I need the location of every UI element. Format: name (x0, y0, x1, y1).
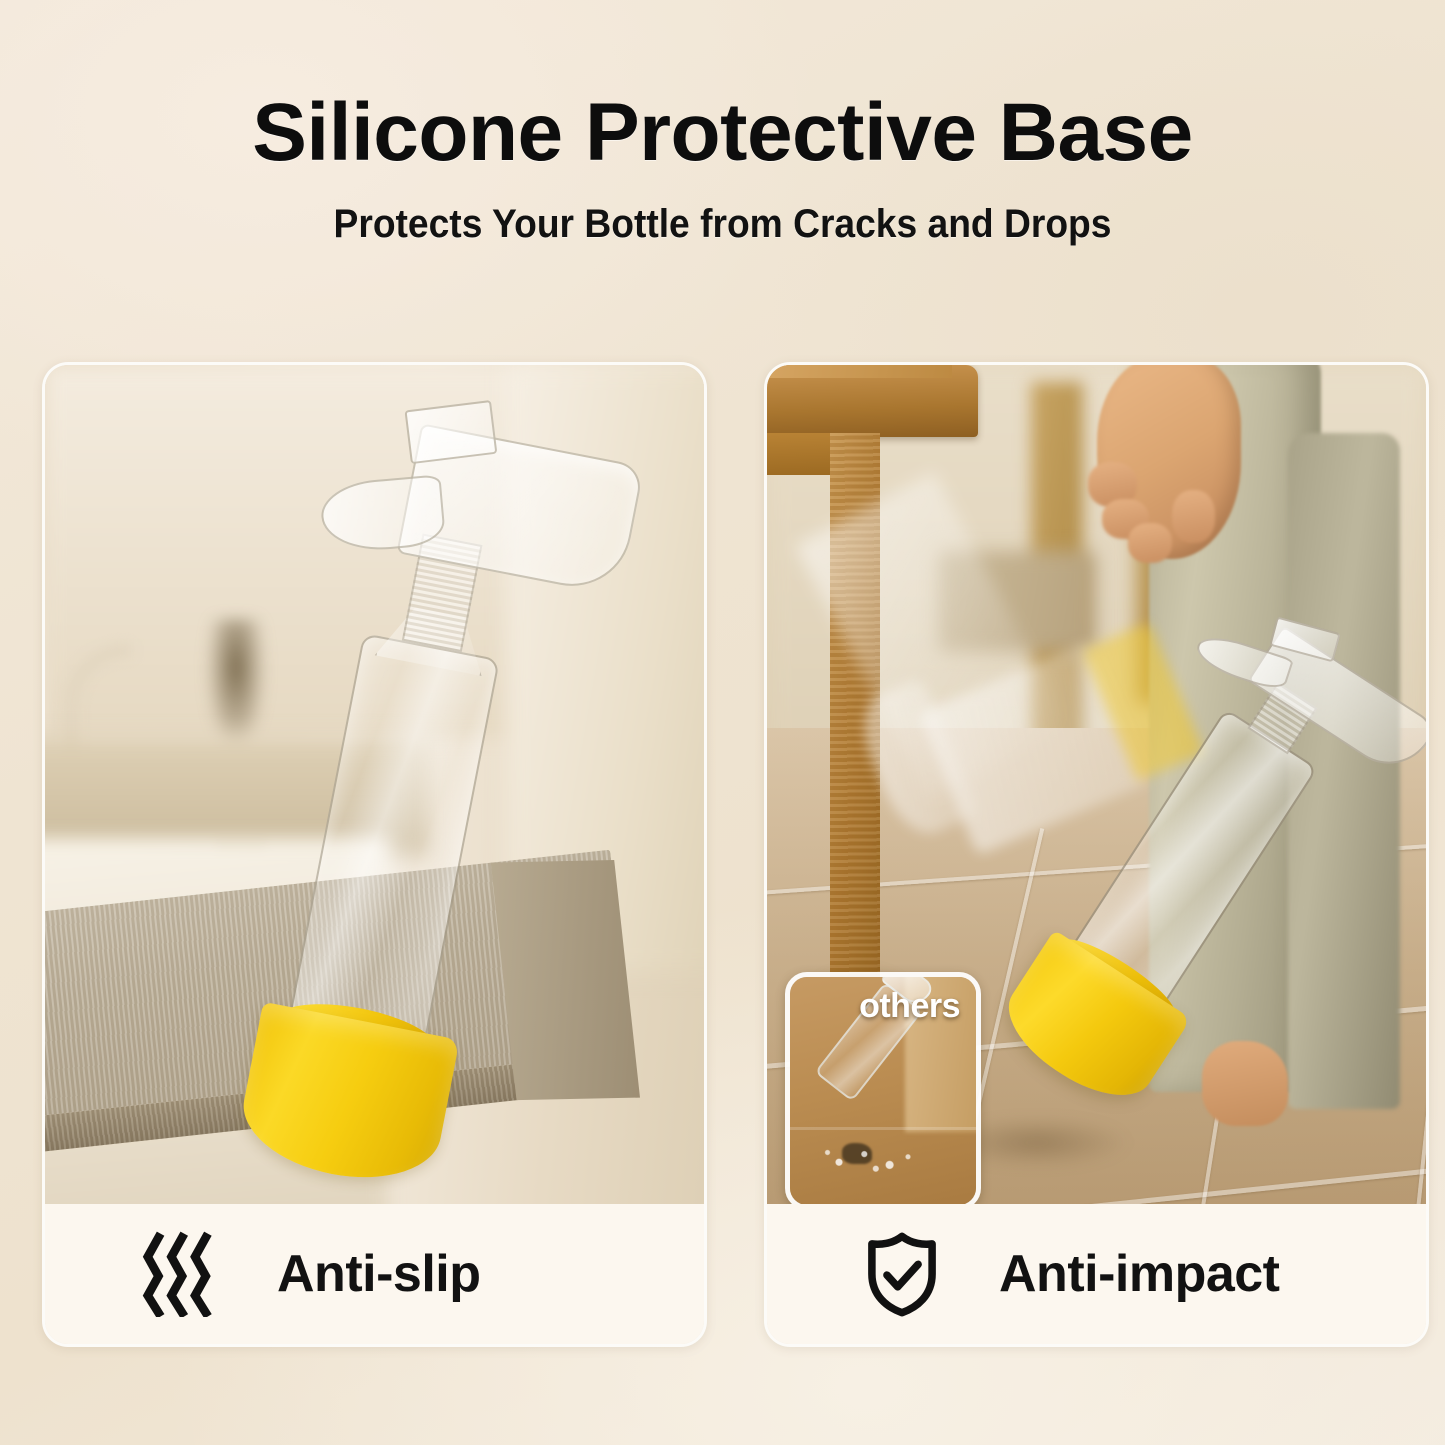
inset-label: others (859, 987, 960, 1026)
page-title: Silicone Protective Base (0, 92, 1445, 174)
header: Silicone Protective Base Protects Your B… (0, 0, 1445, 244)
photo-anti-impact: others (767, 365, 1426, 1210)
table-top-edge (767, 365, 952, 378)
feature-label: Anti-impact (999, 1244, 1280, 1304)
panel-anti-slip[interactable]: Anti-slip (42, 362, 707, 1347)
photo-anti-slip (45, 365, 704, 1210)
panel-anti-impact[interactable]: others Anti-impact (764, 362, 1429, 1347)
others-comparison-inset[interactable]: others (785, 972, 981, 1210)
zigzag-friction-icon (141, 1231, 219, 1317)
feature-label-strip-anti-impact: Anti-impact (767, 1204, 1426, 1344)
shield-check-icon (863, 1231, 941, 1317)
person-hand (1097, 365, 1242, 559)
thumb (1172, 490, 1215, 543)
feature-label: Anti-slip (277, 1244, 480, 1304)
product-infographic: Silicone Protective Base Protects Your B… (0, 0, 1445, 1445)
feature-label-strip-anti-slip: Anti-slip (45, 1204, 704, 1344)
table-apron (767, 433, 833, 475)
glass-shards (816, 1146, 931, 1173)
page-subtitle: Protects Your Bottle from Cracks and Dro… (51, 204, 1395, 244)
